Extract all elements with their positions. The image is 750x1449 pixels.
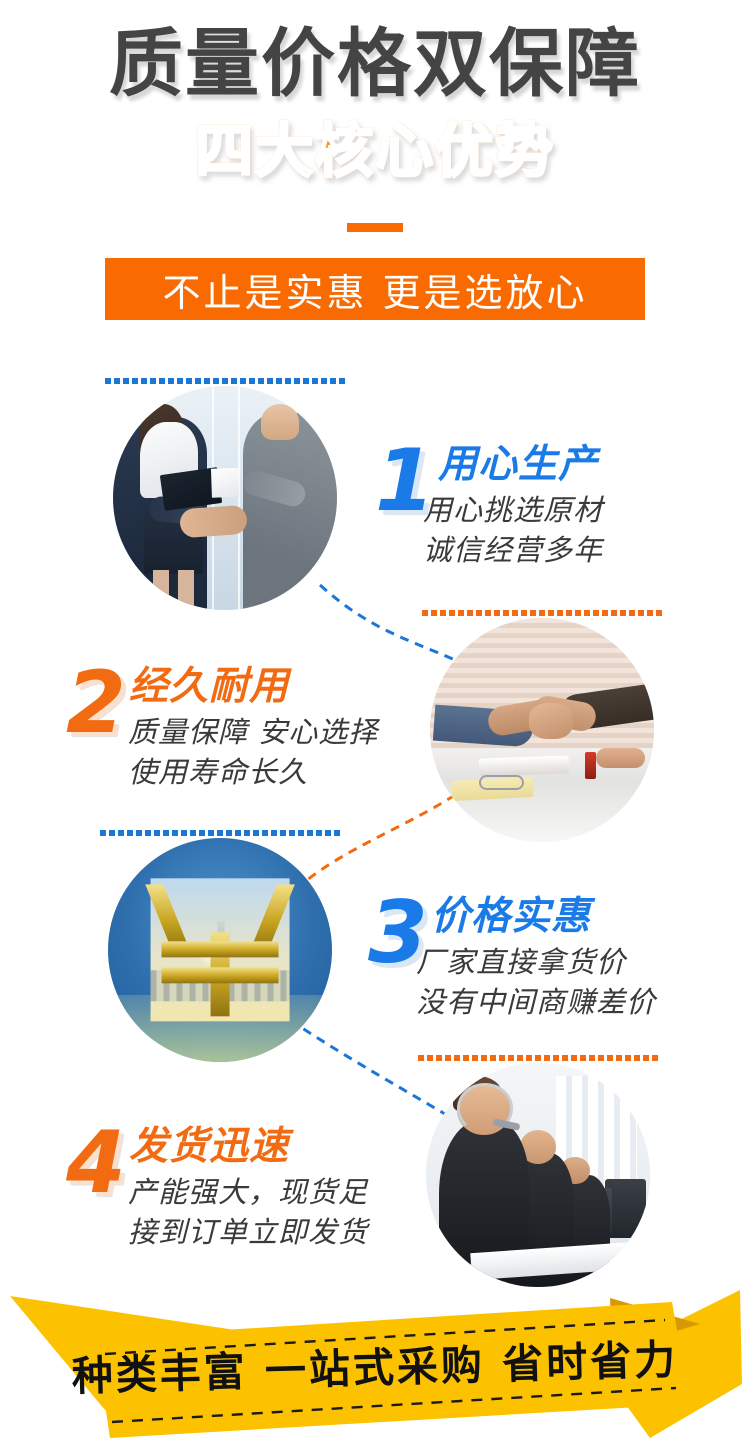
feature-3-text: 3 价格实惠 厂家直接拿货价 没有中间商赚差价 bbox=[368, 890, 708, 1040]
features-section: 1 用心生产 用心挑选原材 诚信经营多年 bbox=[0, 330, 750, 1290]
divider-dash bbox=[347, 223, 403, 232]
feature-4-image bbox=[418, 1055, 658, 1295]
feature-2-text: 2 经久耐用 质量保障 安心选择 使用寿命长久 bbox=[66, 660, 396, 810]
feature-4-line-2: 接到订单立即发货 bbox=[128, 1212, 368, 1252]
tagline-text: 不止是实惠 更是选放心 bbox=[162, 262, 587, 317]
feature-2-number: 2 bbox=[66, 660, 124, 746]
promo-banner-page: 质量价格双保障 四大核心优势 不止是实惠 更是选放心 bbox=[0, 0, 750, 1449]
feature-2-line-1: 质量保障 安心选择 bbox=[128, 712, 378, 752]
tagline-banner: 不止是实惠 更是选放心 bbox=[105, 258, 645, 320]
yuan-currency-symbol-graphic bbox=[108, 838, 332, 1062]
page-subtitle: 四大核心优势 bbox=[0, 118, 750, 184]
feature-1-photo bbox=[113, 386, 337, 610]
feature-4-number: 4 bbox=[66, 1120, 124, 1206]
feature-2-title: 经久耐用 bbox=[129, 666, 289, 708]
feature-4-title: 发货迅速 bbox=[129, 1126, 289, 1168]
feature-1-line-2: 诚信经营多年 bbox=[423, 530, 603, 570]
feature-4-ring bbox=[418, 1055, 658, 1061]
footer-ribbon: 种类丰富 一站式采购 省时省力 bbox=[0, 1288, 750, 1449]
feature-3-line-2: 没有中间商赚差价 bbox=[416, 982, 656, 1022]
feature-1-text: 1 用心生产 用心挑选原材 诚信经营多年 bbox=[375, 438, 675, 588]
feature-4-line-1: 产能强大，现货足 bbox=[128, 1172, 368, 1212]
feature-2-image bbox=[422, 610, 662, 850]
header-section: 质量价格双保障 四大核心优势 不止是实惠 更是选放心 bbox=[0, 0, 750, 330]
feature-1-line-1: 用心挑选原材 bbox=[423, 490, 603, 530]
feature-2-photo bbox=[430, 618, 654, 842]
feature-2-line-2: 使用寿命长久 bbox=[128, 752, 308, 792]
feature-3-ring bbox=[100, 830, 340, 836]
feature-4-photo bbox=[426, 1063, 650, 1287]
feature-1-ring bbox=[105, 378, 345, 384]
page-title: 质量价格双保障 bbox=[0, 22, 750, 106]
feature-3-graphic bbox=[108, 838, 332, 1062]
feature-3-image bbox=[100, 830, 340, 1070]
call-center-agents-photo bbox=[426, 1063, 650, 1287]
feature-1-image bbox=[105, 378, 345, 618]
feature-1-title: 用心生产 bbox=[438, 444, 598, 486]
business-handshake-photo bbox=[113, 386, 337, 610]
feature-3-line-1: 厂家直接拿货价 bbox=[416, 942, 626, 982]
feature-3-title: 价格实惠 bbox=[431, 896, 591, 938]
feature-2-ring bbox=[422, 610, 662, 616]
feature-4-text: 4 发货迅速 产能强大，现货足 接到订单立即发货 bbox=[66, 1120, 406, 1270]
desk-handshake-photo bbox=[430, 618, 654, 842]
